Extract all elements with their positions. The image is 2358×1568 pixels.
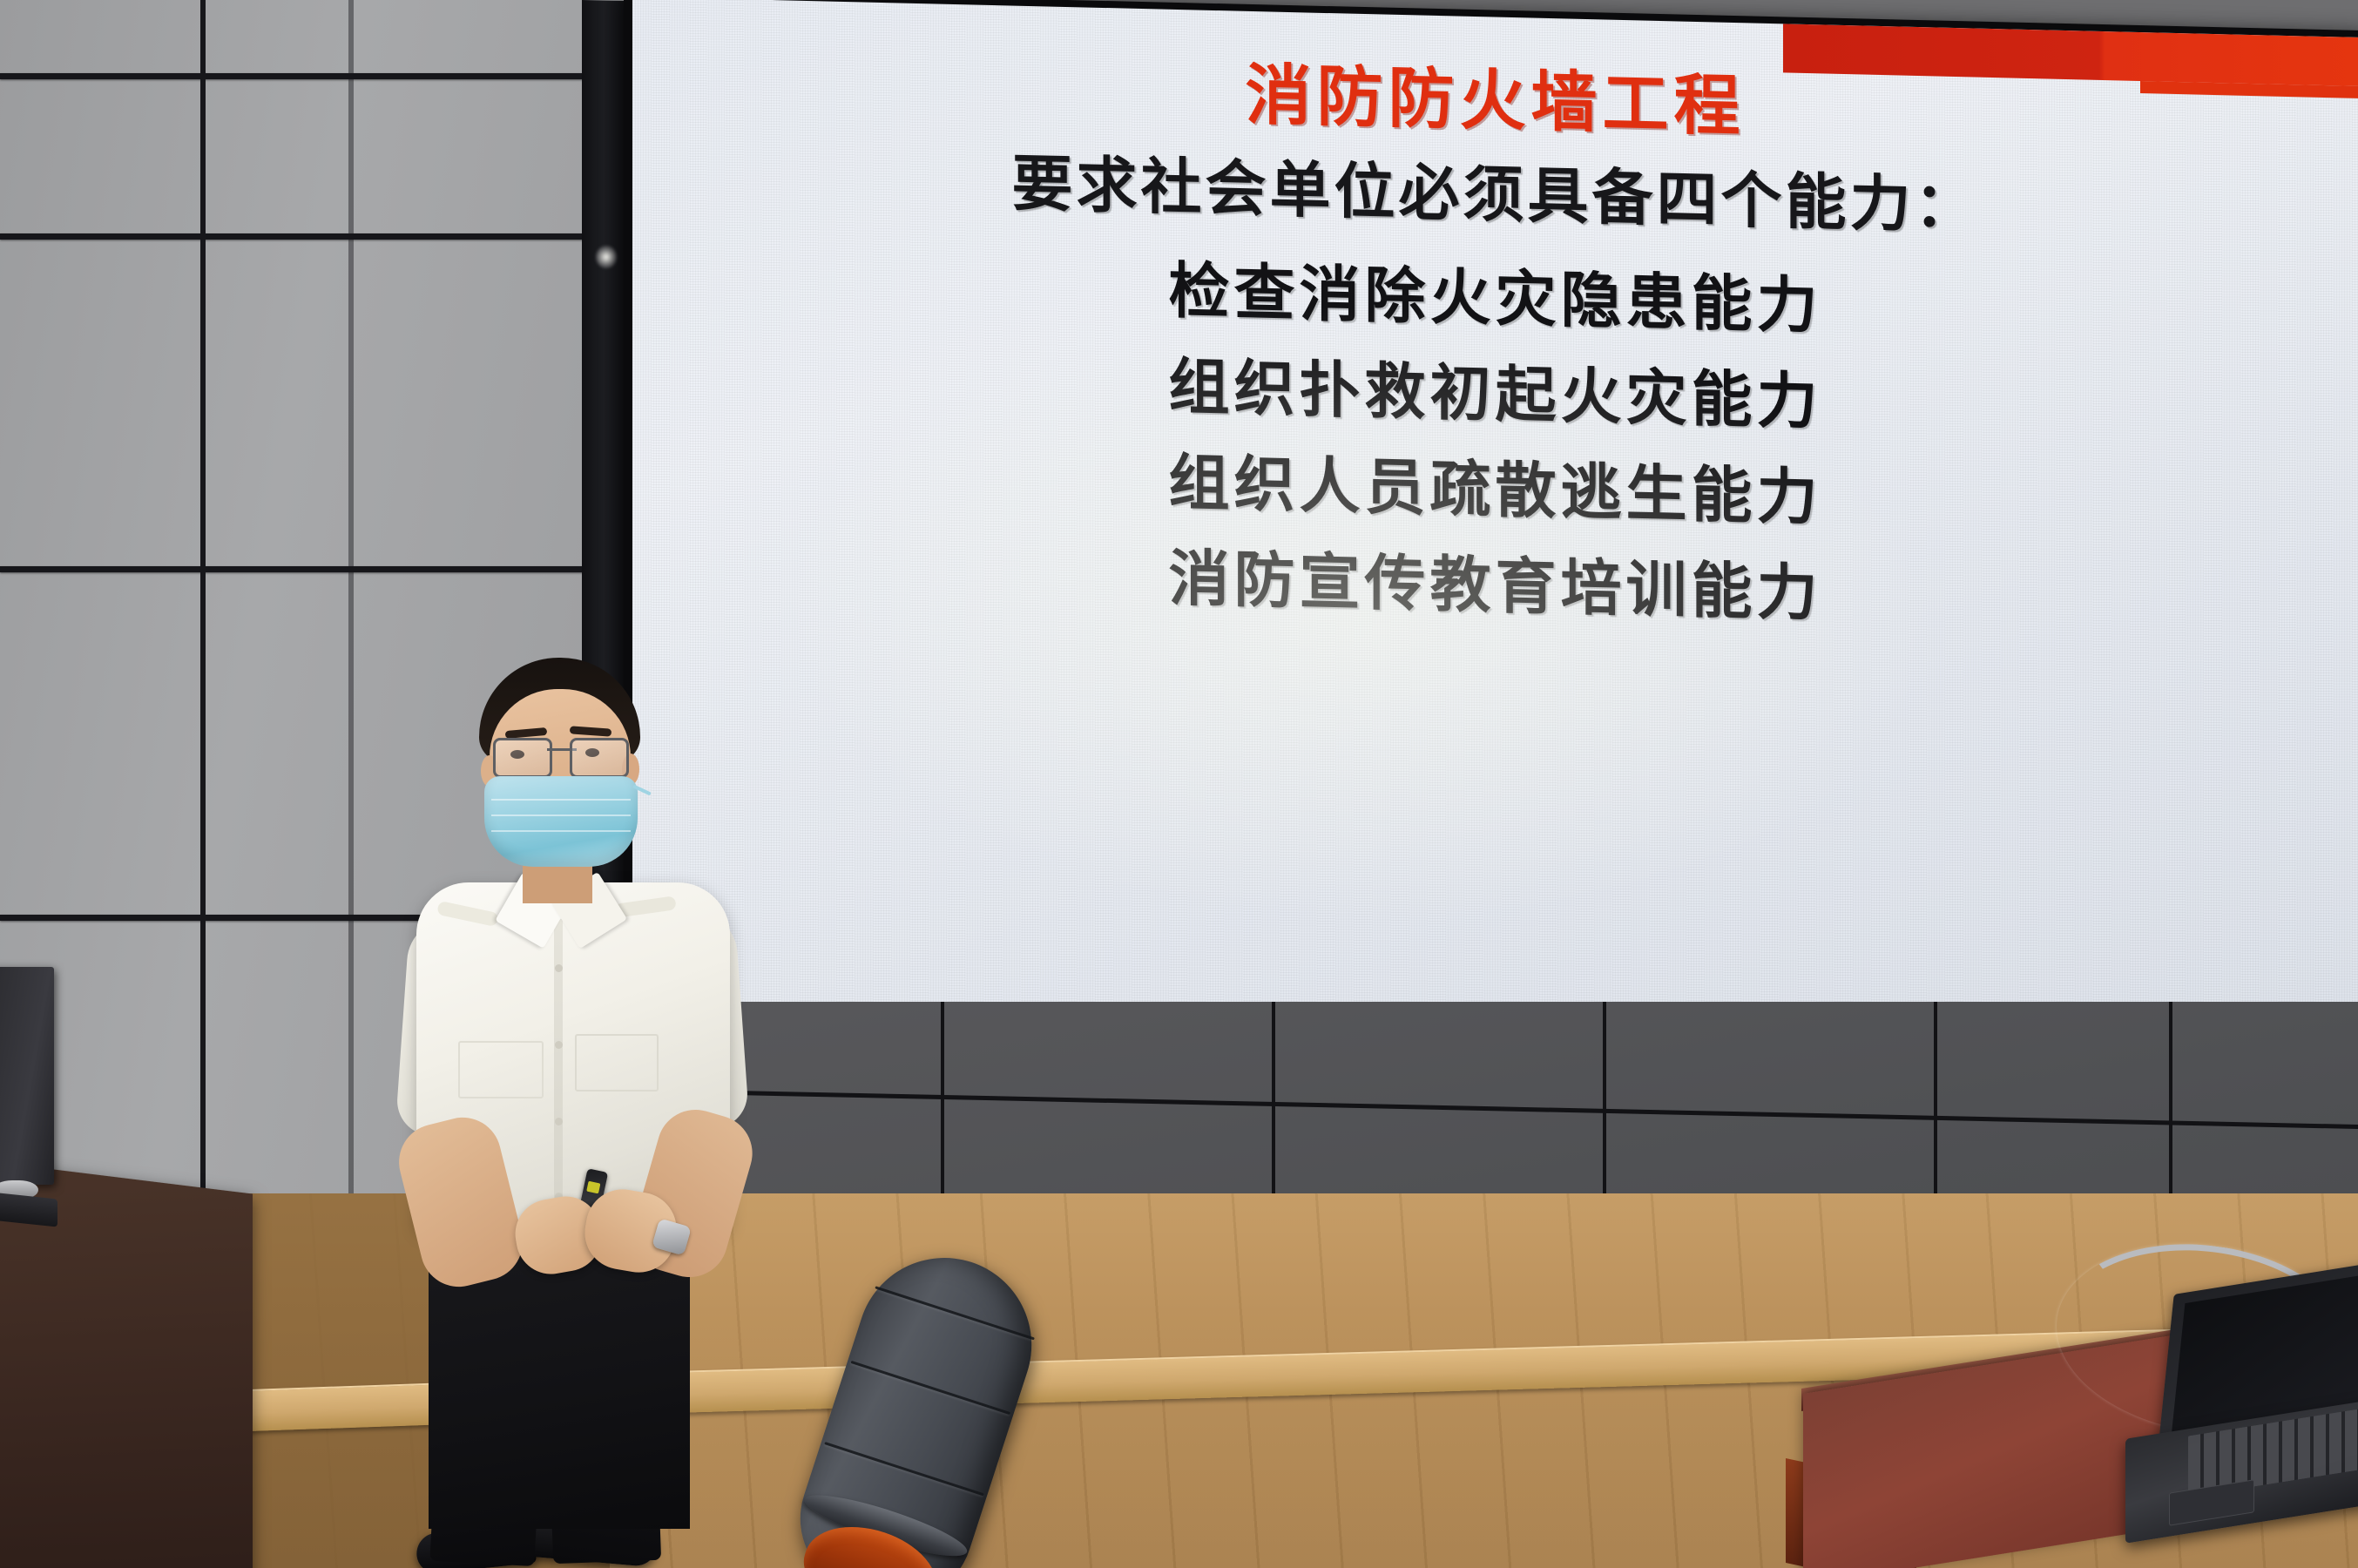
column-light-small-icon — [596, 246, 617, 268]
presenter-shirt-button — [555, 964, 563, 972]
presenter — [383, 658, 758, 1568]
presentation-slide: 消防防火墙工程 要求社会单位必须具备四个能力： 检查消除火灾隐患能力 组织扑救初… — [632, 0, 2358, 1077]
presenter-shirt-pocket-right — [575, 1034, 659, 1092]
presenter-shirt-pocket-left — [458, 1041, 544, 1098]
slide-bullet-list: 检查消除火灾隐患能力 组织扑救初起火灾能力 组织人员疏散逃生能力 消防宣传教育培… — [632, 232, 2358, 655]
face-mask — [484, 776, 638, 867]
led-display[interactable]: 消防防火墙工程 要求社会单位必须具备四个能力： 检查消除火灾隐患能力 组织扑救初… — [624, 0, 2358, 1115]
presenter-shirt-button — [555, 1041, 563, 1049]
desk-monitor[interactable] — [0, 967, 54, 1185]
conference-room-scene: 消防防火墙工程 要求社会单位必须具备四个能力： 检查消除火灾隐患能力 组织扑救初… — [0, 0, 2358, 1568]
eyeglasses-icon — [493, 738, 629, 774]
presenter-shirt-button — [555, 1118, 563, 1125]
